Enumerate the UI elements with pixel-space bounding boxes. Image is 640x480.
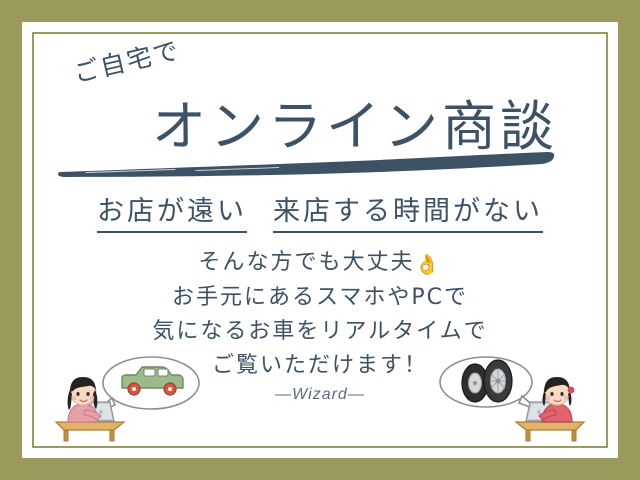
woman-figure-icon xyxy=(68,377,101,422)
desk-icon xyxy=(56,422,124,441)
body-line-1: そんな方でも大丈夫👌 xyxy=(34,246,606,281)
car-speech-bubble-icon xyxy=(96,357,199,412)
right-illustration xyxy=(438,350,588,442)
body-line-3: 気になるお車をリアルタイムで xyxy=(34,315,606,349)
brush-underline-icon xyxy=(56,150,556,180)
tires-speech-bubble-icon xyxy=(440,357,538,410)
subheading-item-2: 来店する時間がない xyxy=(273,189,543,233)
desk-icon xyxy=(516,422,584,441)
subheading-item-1: お店が遠い xyxy=(97,189,247,233)
poster: ご自宅で オンライン商談 お店が遠い 来店する時間がない そんな方でも大丈夫👌 … xyxy=(0,0,640,480)
ok-hand-emoji-icon: 👌 xyxy=(415,252,442,276)
content-stage: ご自宅で オンライン商談 お店が遠い 来店する時間がない そんな方でも大丈夫👌 … xyxy=(34,34,606,446)
body-line-2: お手元にあるスマホやPCで xyxy=(34,281,606,315)
girl-figure-icon xyxy=(539,377,574,422)
hair-tie-icon xyxy=(568,387,575,394)
left-illustration xyxy=(52,350,202,442)
subheading-row: お店が遠い 来店する時間がない xyxy=(34,189,606,233)
body-line-1-text: そんな方でも大丈夫 xyxy=(199,250,415,275)
